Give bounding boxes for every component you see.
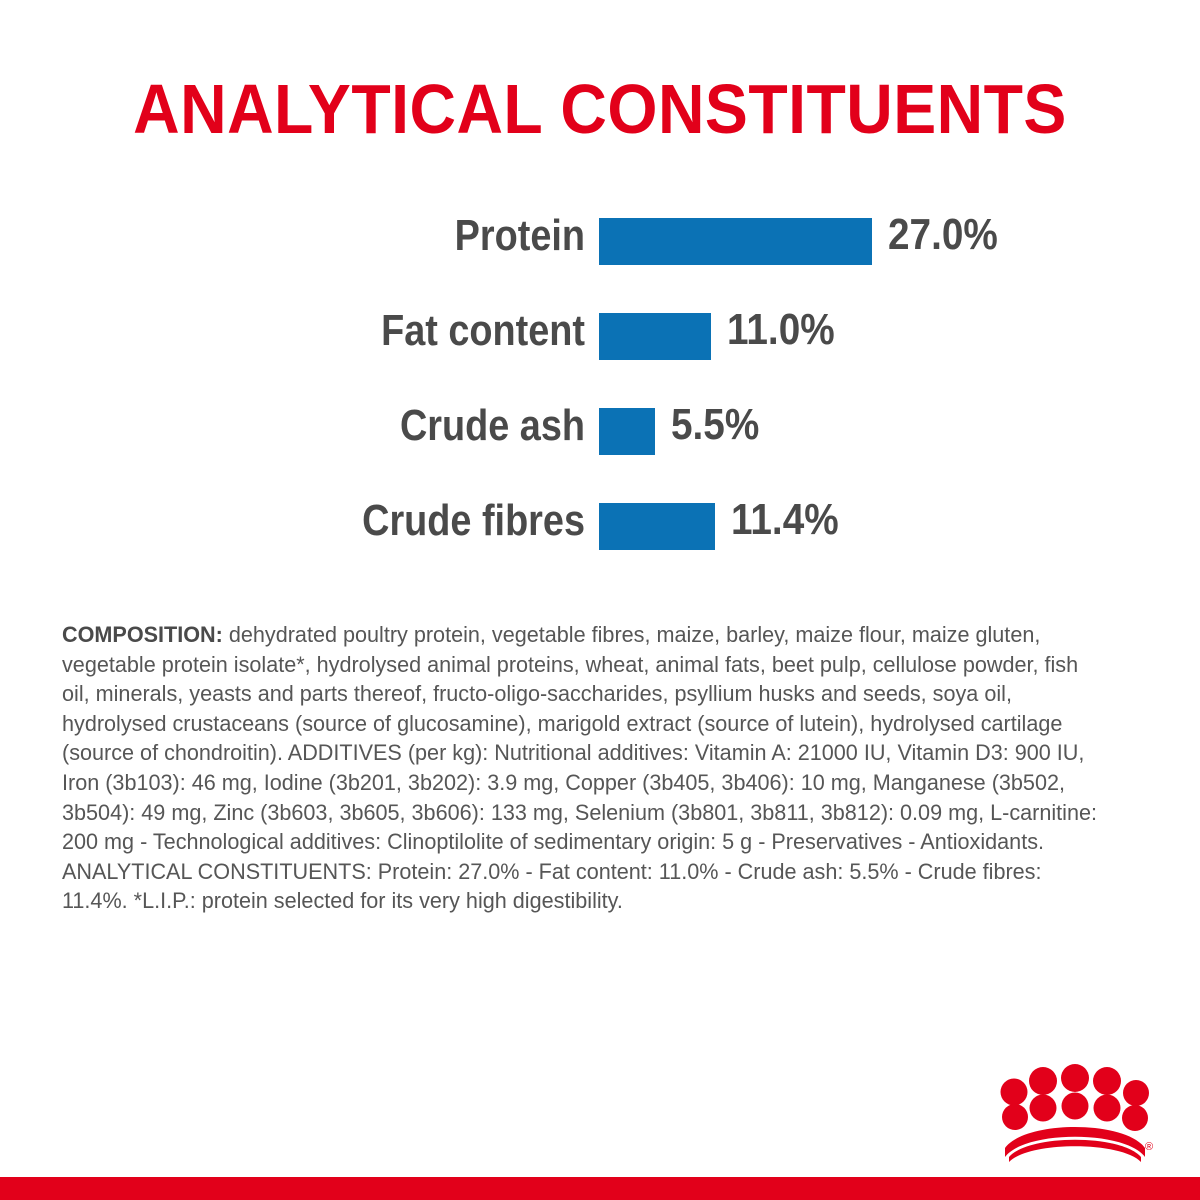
bar-value-fat-content: 11.0%	[727, 306, 835, 354]
chart-row-fat-content: Fat content 11.0%	[0, 295, 1200, 390]
composition-paragraph: COMPOSITION: dehydrated poultry protein,…	[62, 620, 1104, 916]
bar-fill-fat-content	[599, 313, 711, 360]
bar-track-crude-fibres	[599, 503, 715, 550]
composition-body-text: dehydrated poultry protein, vegetable fi…	[62, 622, 1097, 913]
bar-label-protein: Protein	[241, 212, 585, 260]
bar-track-crude-ash	[599, 408, 655, 455]
bar-label-fat-content: Fat content	[241, 307, 585, 355]
royal-canin-crown-logo: ®	[995, 1062, 1155, 1162]
bar-track-protein	[599, 218, 872, 265]
bar-value-protein: 27.0%	[888, 211, 998, 259]
bar-track-fat-content	[599, 313, 711, 360]
bar-value-crude-ash: 5.5%	[671, 401, 759, 449]
analytical-constituents-chart: Protein 27.0% Fat content 11.0% Crude as…	[0, 200, 1200, 580]
analytical-constituents-page: ANALYTICAL CONSTITUENTS Protein 27.0% Fa…	[0, 0, 1200, 1200]
registered-trademark-mark: ®	[1145, 1141, 1153, 1153]
bar-label-crude-ash: Crude ash	[241, 402, 585, 450]
bar-label-crude-fibres: Crude fibres	[241, 497, 585, 545]
bar-fill-protein	[599, 218, 872, 265]
page-title: ANALYTICAL CONSTITUENTS	[48, 72, 1152, 146]
composition-lead-label: COMPOSITION:	[62, 622, 223, 647]
bar-value-crude-fibres: 11.4%	[731, 496, 839, 544]
chart-row-protein: Protein 27.0%	[0, 200, 1200, 295]
bar-fill-crude-ash	[599, 408, 655, 455]
chart-row-crude-ash: Crude ash 5.5%	[0, 390, 1200, 485]
chart-row-crude-fibres: Crude fibres 11.4%	[0, 485, 1200, 580]
bar-fill-crude-fibres	[599, 503, 715, 550]
bottom-red-bar	[0, 1177, 1200, 1200]
